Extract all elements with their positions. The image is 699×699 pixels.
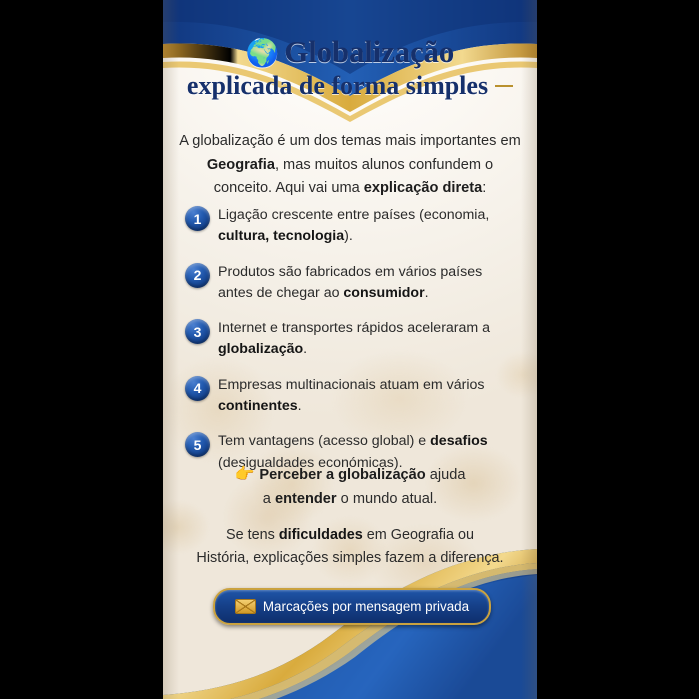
list-number-badge: 1 — [185, 206, 210, 231]
list-item-text-bold: continentes — [218, 398, 298, 414]
pointing-right-hand-icon: 👉 — [235, 466, 255, 483]
list-item-text-a: Ligação crescente entre países (economia… — [218, 207, 489, 223]
list-item: 3 Internet e transportes rápidos acelera… — [185, 318, 519, 361]
title-block: 🌍 Globalização explicada de forma simple… — [163, 36, 537, 100]
poster-panel: 🌍 Globalização explicada de forma simple… — [163, 0, 537, 699]
globe-icon: 🌍 — [246, 40, 279, 67]
title-text: Globalização — [284, 36, 454, 69]
highlight-normal-a: ajuda — [426, 467, 466, 483]
list-item-text-bold: consumidor — [343, 285, 424, 301]
list-item-text-a: Empresas multinacionais atuam em vários — [218, 377, 485, 393]
list-number-badge: 4 — [185, 376, 210, 401]
subtitle-dash-decoration — [495, 85, 513, 87]
list-item: 4 Empresas multinacionais atuam em vário… — [185, 375, 519, 418]
highlight-bold-b: entender — [275, 491, 337, 507]
intro-emphasis-explicacao: explicação direta — [364, 180, 482, 196]
list-item-text: Empresas multinacionais atuam em vários … — [218, 375, 519, 418]
list-item-text: Ligação crescente entre países (economia… — [218, 205, 519, 248]
list-item-text-bold: cultura, tecnologia — [218, 228, 344, 244]
list-item-text: Internet e transportes rápidos acelerara… — [218, 318, 519, 361]
intro-line-3c: : — [482, 180, 486, 196]
list-item-text-bold: desafios — [430, 433, 488, 449]
highlight-normal-c: o mundo atual. — [337, 491, 438, 507]
list-item: 1 Ligação crescente entre países (econom… — [185, 205, 519, 248]
list-number-badge: 5 — [185, 432, 210, 457]
numbered-list: 1 Ligação crescente entre países (econom… — [185, 205, 519, 488]
screenshot-canvas: 🌍 Globalização explicada de forma simple… — [0, 0, 699, 699]
list-item-text-c: . — [303, 341, 307, 357]
intro-line-2a: em — [500, 133, 520, 149]
cta-button-marcacoes[interactable]: Marcações por mensagem privada — [213, 588, 491, 625]
intro-line-1: A globalização é um dos temas mais impor… — [179, 133, 496, 149]
envelope-icon — [235, 599, 256, 614]
list-item-text-c: . — [425, 285, 429, 301]
list-item-text-bold: globalização — [218, 341, 303, 357]
list-number-badge: 3 — [185, 319, 210, 344]
list-item: 2 Produtos são fabricados em vários país… — [185, 262, 519, 305]
intro-emphasis-geografia: Geografia — [207, 157, 275, 173]
list-item-text-a: Tem vantagens (acesso global) e — [218, 433, 430, 449]
list-item-text-a: Internet e transportes rápidos acelerara… — [218, 320, 490, 336]
highlight-normal-b: a — [263, 491, 275, 507]
list-item-text-c: . — [298, 398, 302, 414]
outro-line-2: História, explicações simples fazem a di… — [196, 550, 503, 566]
outro-line-1a: Se tens — [226, 527, 279, 543]
list-item-text: Produtos são fabricados em vários países… — [218, 262, 519, 305]
list-number-badge: 2 — [185, 263, 210, 288]
outro-line-1c: em Geografia ou — [363, 527, 474, 543]
outro-paragraph: Se tens dificuldades em Geografia ou His… — [173, 524, 527, 571]
poster-content: 🌍 Globalização explicada de forma simple… — [163, 0, 537, 699]
subtitle-text: explicada de forma simples — [187, 71, 488, 100]
list-item-text-c: ). — [344, 228, 353, 244]
intro-paragraph: A globalização é um dos temas mais impor… — [177, 130, 523, 201]
highlight-callout: 👉Perceber a globalização ajuda a entende… — [181, 462, 519, 512]
page-subtitle: explicada de forma simples — [163, 72, 537, 101]
page-title: 🌍 Globalização — [163, 36, 537, 69]
intro-line-2c: , mas muitos alunos confundem — [275, 157, 481, 173]
outro-emphasis-dificuldades: dificuldades — [279, 527, 363, 543]
highlight-bold-a: Perceber a globalização — [259, 467, 425, 483]
cta-label: Marcações por mensagem privada — [263, 599, 469, 614]
